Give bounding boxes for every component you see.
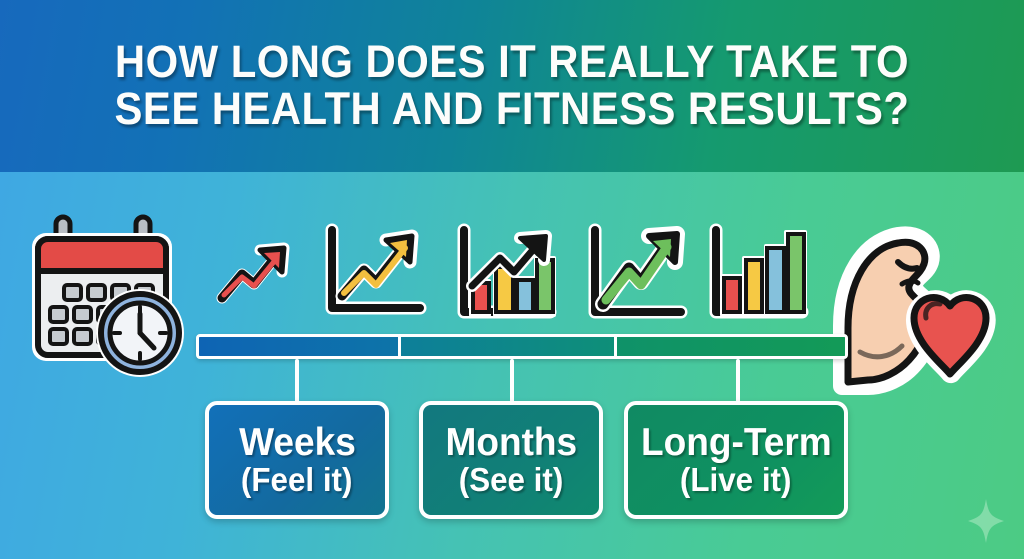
header-banner: HOW LONG DOES IT REALLY TAKE TO SEE HEAL… [0,0,1024,172]
page-title: HOW LONG DOES IT REALLY TAKE TO SEE HEAL… [94,39,931,133]
timeline-segment-months[interactable] [401,337,617,356]
connector-line-months [510,359,514,403]
title-line-1: HOW LONG DOES IT REALLY TAKE TO [115,36,909,87]
stage-card-long-term[interactable]: Long-Term (Live it) [624,401,848,519]
green-trend-arrow-chart-icon [583,224,688,324]
stage-card-months[interactable]: Months (See it) [419,401,603,519]
calendar-clock-icon [18,215,196,385]
timeline-segment-weeks[interactable] [199,337,401,356]
ascending-bar-chart-icon [704,224,809,324]
yellow-trend-arrow-chart-icon [318,222,428,322]
sparkle-icon [968,499,1004,543]
stage-label-secondary-long-term: (Live it) [680,463,791,497]
stage-card-weeks[interactable]: Weeks (Feel it) [205,401,389,519]
stage-label-primary-long-term: Long-Term [641,423,832,463]
title-line-2: SEE HEALTH AND FITNESS RESULTS? [94,86,931,133]
stage-label-primary-months: Months [445,423,577,463]
flexed-bicep-heart-icon [818,218,1000,396]
connector-line-weeks [295,359,299,403]
stage-label-secondary-months: (See it) [459,463,564,497]
multicolor-bar-chart-with-arrow-icon [452,224,557,324]
infographic-canvas: HOW LONG DOES IT REALLY TAKE TO SEE HEAL… [0,0,1024,559]
stage-label-secondary-weeks: (Feel it) [241,463,352,497]
red-trend-arrow-icon [216,240,298,306]
connector-line-long-term [736,359,740,403]
timeline-bar [196,334,848,359]
stage-label-primary-weeks: Weeks [239,423,356,463]
timeline-segment-long-term[interactable] [617,337,845,356]
